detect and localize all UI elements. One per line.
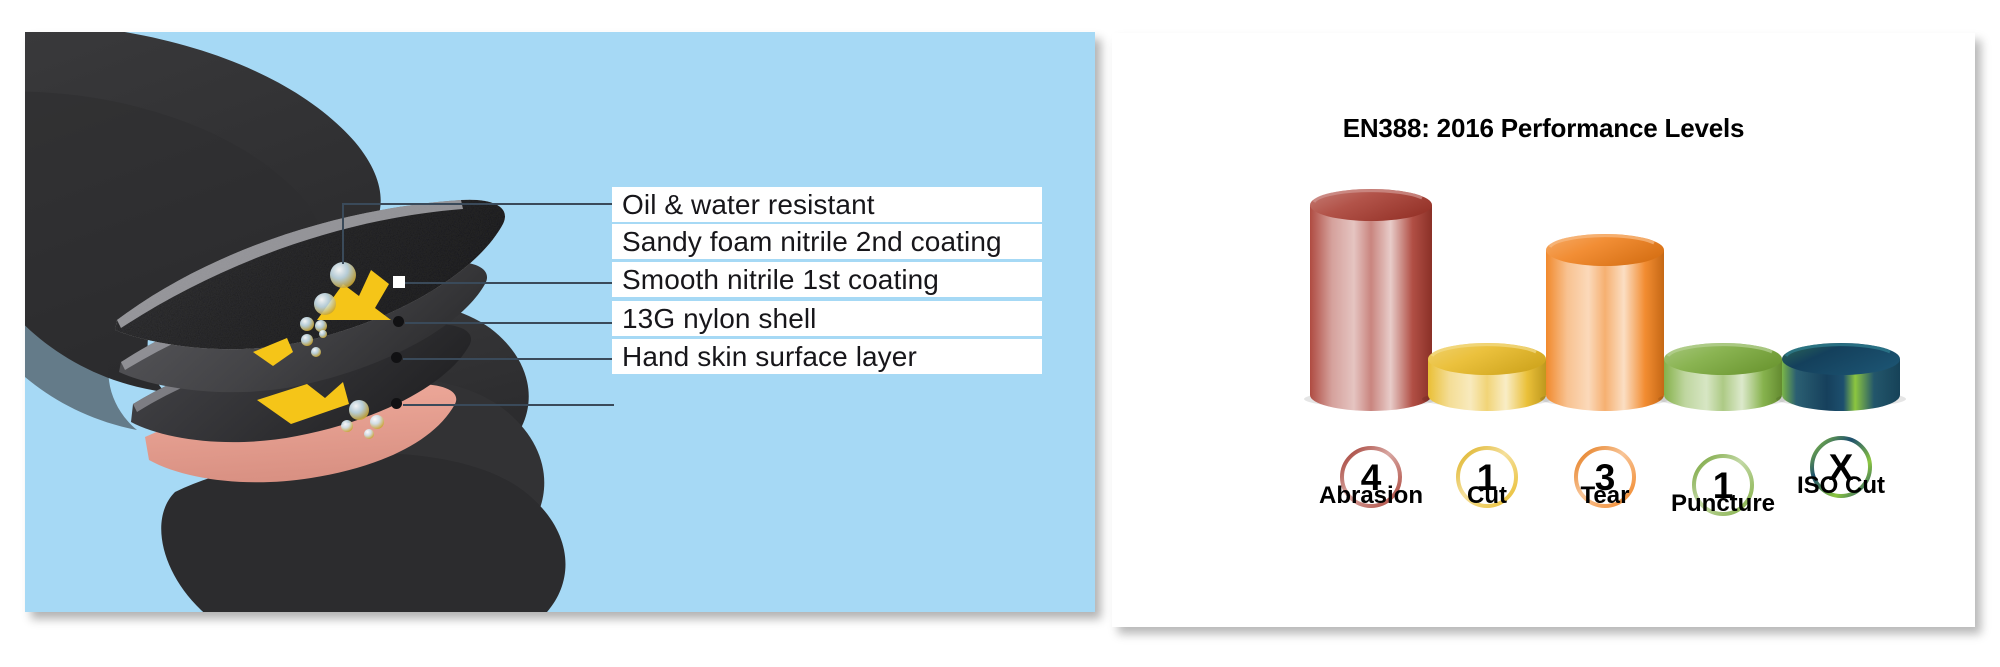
bar-abrasion — [1304, 189, 1438, 411]
callout-hand-skin-layer: Hand skin surface layer — [612, 339, 1042, 374]
en388-performance-panel: EN388: 2016 Performance Levels 4Abrasion… — [1112, 33, 1975, 627]
callout-nylon-shell: 13G nylon shell — [612, 301, 1042, 336]
leader-line-0-vertical — [342, 204, 344, 264]
en388-bar-chart: 4Abrasion1Cut3Tear1PunctureXISO Cut — [1112, 33, 1975, 627]
layer-marker-black-1 — [393, 316, 404, 327]
leader-line-0 — [342, 203, 614, 205]
callout-label: Sandy foam nitrile 2nd coating — [612, 228, 1002, 256]
category-label-puncture: Puncture — [1671, 490, 1775, 517]
category-label-tear: Tear — [1581, 482, 1630, 509]
layer-marker-black-2 — [391, 352, 402, 363]
leader-line-3 — [403, 358, 614, 360]
bar-puncture — [1658, 343, 1788, 411]
category-label-cut: Cut — [1467, 482, 1507, 509]
callout-label: Hand skin surface layer — [612, 343, 917, 371]
layer-marker-white — [393, 276, 405, 288]
callout-smooth-nitrile: Smooth nitrile 1st coating — [612, 262, 1042, 297]
leader-line-1 — [403, 282, 614, 284]
leader-line-4 — [403, 404, 614, 406]
callout-label: Smooth nitrile 1st coating — [612, 266, 939, 294]
layer-marker-black-3 — [391, 398, 402, 409]
leader-line-2 — [405, 322, 614, 324]
callout-label: 13G nylon shell — [612, 305, 817, 333]
callout-sandy-foam-nitrile: Sandy foam nitrile 2nd coating — [612, 224, 1042, 259]
glove-construction-panel: Oil & water resistant Sandy foam nitrile… — [25, 32, 1095, 612]
callout-label: Oil & water resistant — [612, 191, 875, 219]
callout-oil-water-resistant: Oil & water resistant — [612, 187, 1042, 222]
category-label-abrasion: Abrasion — [1319, 482, 1423, 509]
bar-iso-cut — [1776, 343, 1906, 411]
bar-tear — [1540, 234, 1670, 411]
bar-cut — [1422, 343, 1552, 411]
category-label-iso-cut: ISO Cut — [1797, 472, 1885, 499]
